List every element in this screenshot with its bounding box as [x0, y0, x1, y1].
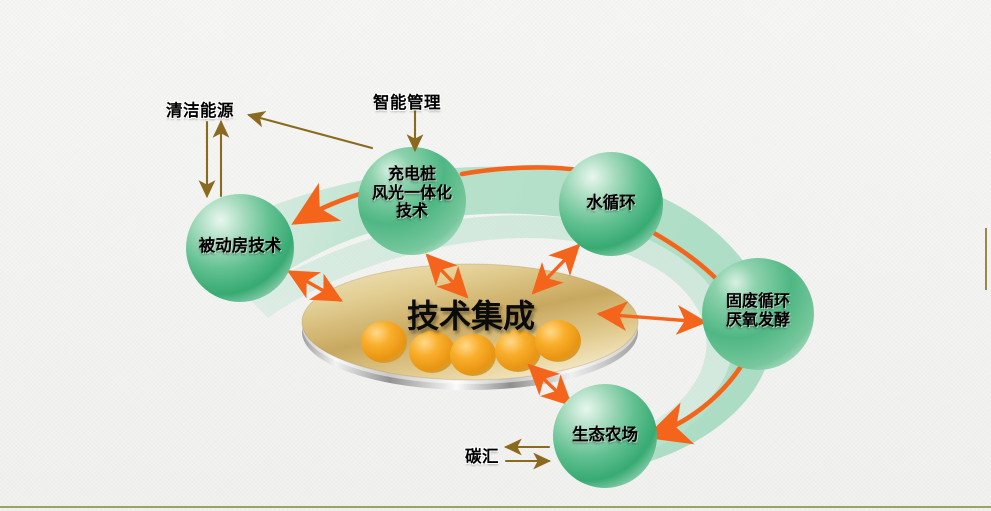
arrow-clean-energy-from-charging [249, 115, 372, 148]
diagram-svg [0, 0, 991, 511]
diagram-canvas: 技术集成 被动房技术 充电桩 风光一体化 技术 水循环 固废循环 厌氧发酵 生态… [0, 0, 991, 511]
node-solid-waste[interactable] [702, 258, 814, 370]
node-passive-house[interactable] [186, 194, 294, 302]
node-eco-farm[interactable] [553, 384, 657, 488]
node-water-cycle[interactable] [559, 152, 663, 256]
node-charging-pile[interactable] [358, 147, 466, 255]
